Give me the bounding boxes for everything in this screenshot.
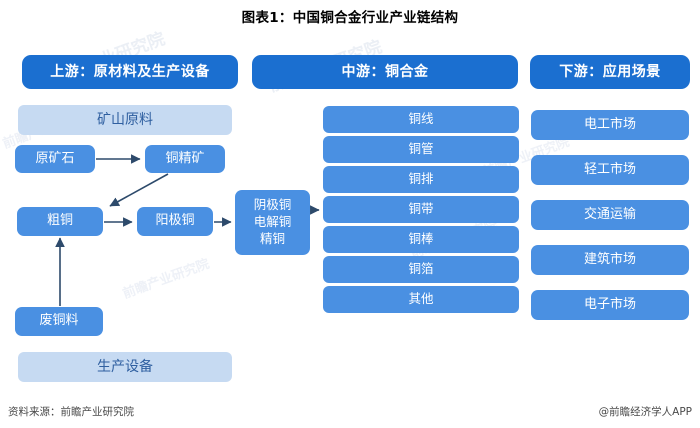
node-light-industry-market: 轻工市场	[531, 155, 689, 185]
node-copper-foil: 铜箔	[323, 256, 519, 283]
node-cathode-electrolytic-refined-copper: 阴极铜 电解铜 精铜	[235, 190, 310, 255]
node-blister-copper: 粗铜	[17, 207, 103, 236]
node-scrap-copper: 废铜料	[15, 307, 103, 336]
source-note: 资料来源：前瞻产业研究院	[8, 404, 134, 419]
node-copper-strip: 铜带	[323, 196, 519, 223]
node-copper-wire: 铜线	[323, 106, 519, 133]
cathode-copper-line2: 电解铜	[254, 214, 292, 231]
node-other-products: 其他	[323, 286, 519, 313]
header-midstream: 中游：铜合金	[252, 55, 518, 89]
watermark: 前瞻产业研究院	[119, 253, 211, 302]
header-upstream: 上游：原材料及生产设备	[22, 55, 238, 89]
banner-mine-raw-material: 矿山原料	[18, 105, 232, 135]
cathode-copper-line1: 阴极铜	[254, 197, 292, 214]
node-electronics-market: 电子市场	[531, 290, 689, 320]
diagram-canvas: 前瞻产业研究院 前瞻产业研究院 前瞻产业研究院 前瞻产业研究院 前瞻产业研究院 …	[0, 0, 700, 428]
node-construction-market: 建筑市场	[531, 245, 689, 275]
node-raw-ore: 原矿石	[15, 145, 95, 173]
banner-production-equipment: 生产设备	[18, 352, 232, 382]
node-electrical-market: 电工市场	[531, 110, 689, 140]
node-copper-tube: 铜管	[323, 136, 519, 163]
cathode-copper-line3: 精铜	[260, 231, 285, 248]
app-credit: @前瞻经济学人APP	[599, 404, 692, 419]
chart-title: 图表1：中国铜合金行业产业链结构	[0, 6, 700, 26]
node-copper-bar: 铜棒	[323, 226, 519, 253]
node-copper-concentrate: 铜精矿	[145, 145, 225, 173]
node-transportation-market: 交通运输	[531, 200, 689, 230]
header-downstream: 下游：应用场景	[530, 55, 690, 89]
node-copper-busbar: 铜排	[323, 166, 519, 193]
node-anode-copper: 阳极铜	[137, 207, 213, 236]
